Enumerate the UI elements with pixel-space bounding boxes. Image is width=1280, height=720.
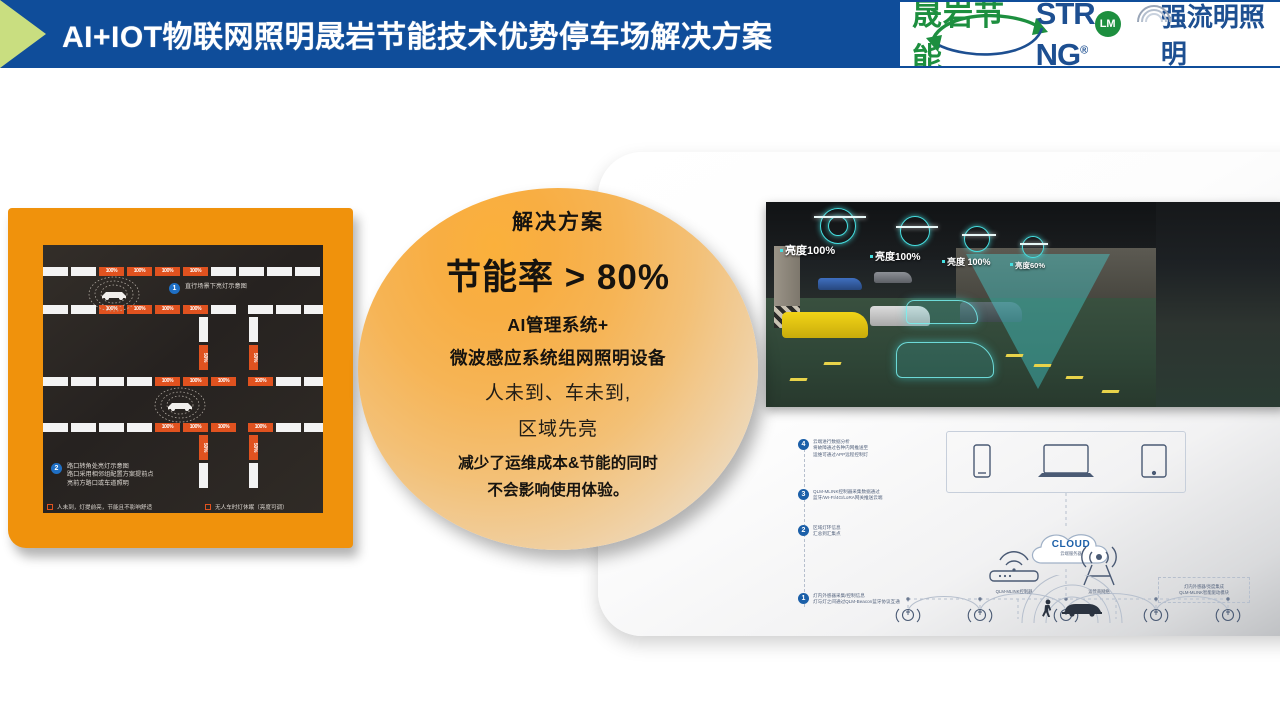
ceiling-light-bar: [814, 216, 866, 218]
annotation-text: 直行场景下亮灯示意图: [185, 283, 247, 291]
light-strip-lit: 100%: [248, 377, 273, 386]
light-strip-lit: 100%: [183, 267, 208, 276]
light-strip-lit: 100%: [155, 377, 180, 386]
logo-strong-post: NG: [1036, 37, 1081, 67]
diagram-annotation: 1 直行场景下亮灯示意图: [169, 283, 247, 294]
light-strip-row: 100% 100% 100%: [43, 423, 236, 432]
light-strip: [239, 267, 264, 276]
page-title: AI+IOT物联网照明晟岩节能技术优势停车场解决方案: [62, 0, 773, 68]
light-strip: [249, 317, 258, 342]
light-strip: [211, 267, 236, 276]
lamp-note-box: 灯内外感器/亮度集成 QLM-MLINK智能驱动模块: [1158, 577, 1250, 603]
parking-lighting-diagram: 100% 100% 100% 100% 100% 100% 100% 100%: [43, 245, 323, 513]
solution-line-6: 不会影响使用体验。: [487, 478, 628, 500]
light-strip-lit: 50%: [199, 435, 208, 460]
logo-lm-badge: LM: [1095, 11, 1121, 37]
light-strip-col: 50%: [199, 435, 208, 488]
solution-line-2: 微波感应系统组网照明设备: [450, 345, 666, 370]
ceiling-sensor-ring: [1022, 236, 1044, 258]
light-strip-lit: 100%: [155, 305, 180, 314]
light-strip: [71, 423, 96, 432]
ceiling-light-bar: [1020, 243, 1048, 245]
tag-dot: [942, 260, 945, 263]
solution-ellipse-content: 解决方案 节能率 > 80% AI管理系统+ 微波感应系统组网照明设备 人未到、…: [358, 188, 758, 550]
solution-ellipse: 解决方案 节能率 > 80% AI管理系统+ 微波感应系统组网照明设备 人未到、…: [358, 188, 758, 550]
light-strip: [295, 267, 320, 276]
light-strip: [43, 267, 68, 276]
solution-line-3: 人未到、车未到,: [485, 378, 631, 405]
light-strip-lit: 100%: [183, 423, 208, 432]
legend-item: 人未到，灯提前亮，节能且不影响舒适: [47, 503, 152, 511]
wireframe-car: [896, 342, 994, 378]
brightness-tag: 亮度100%: [780, 242, 835, 258]
lane-dash: [789, 378, 807, 381]
light-strip-row: 100%: [248, 423, 323, 432]
light-strip-col: 50%: [249, 317, 258, 370]
light-strip-lit: 100%: [211, 377, 236, 386]
solution-line-1: AI管理系统+: [507, 312, 608, 337]
lane-dash: [1033, 364, 1051, 367]
light-strip: [304, 423, 323, 432]
ceiling-sensor-ring: [900, 216, 930, 246]
highlighted-car: [906, 300, 978, 324]
light-strip-lit: 50%: [199, 345, 208, 370]
ceiling-sensor-ring: [964, 226, 990, 252]
light-strip: [127, 423, 152, 432]
light-strip-row: 100% 100% 100%: [43, 377, 236, 386]
solution-line-5: 减少了运维成本&节能的同时: [458, 451, 658, 473]
lamp-icon: [1216, 609, 1240, 622]
logo-registered-mark: ®: [1080, 44, 1087, 56]
lane-dash: [1005, 354, 1023, 357]
solution-line-4: 区域先亮: [518, 414, 598, 441]
lane-dash: [823, 362, 841, 365]
light-strip-row: 100% 100% 100% 100%: [43, 267, 320, 276]
lamp-note-line-2: QLM-MLINK智能驱动模块: [1179, 590, 1229, 596]
light-strip: [199, 317, 208, 342]
light-strip-lit: 50%: [249, 345, 258, 370]
header-bar: AI+IOT物联网照明晟岩节能技术优势停车场解决方案 晟岩节能 STRLMNG®…: [0, 0, 1280, 68]
tag-dot: [1010, 263, 1013, 266]
light-strip: [43, 377, 68, 386]
light-strip: [211, 305, 236, 314]
light-strip: [199, 463, 208, 488]
tag-dot: [870, 255, 873, 258]
light-strip: [304, 305, 323, 314]
parked-car: [782, 312, 868, 338]
light-strip-lit: 50%: [249, 435, 258, 460]
light-strip: [248, 305, 273, 314]
light-strip: [43, 423, 68, 432]
light-strip: [43, 305, 68, 314]
chevron-right-icon: [0, 0, 46, 68]
network-architecture-diagram: 4 云端进行数据分析 将故障通过各种内网推送至 运维可通过APP远程控制灯 3 …: [768, 427, 1280, 619]
lane-dash: [1101, 390, 1119, 393]
tag-dot: [780, 249, 783, 252]
annotation-number: 2: [51, 463, 62, 474]
legend-marker: [205, 504, 211, 510]
ceiling-light-bar: [962, 234, 996, 236]
light-strip: [127, 377, 152, 386]
light-strip: [276, 305, 301, 314]
parked-car: [874, 272, 912, 283]
legend-marker: [47, 504, 53, 510]
legend-item: 无人车时灯休眠（亮度可调）: [205, 503, 288, 511]
brightness-tag: 亮度60%: [1010, 260, 1045, 271]
left-orange-card: 100% 100% 100% 100% 100% 100% 100% 100%: [8, 208, 353, 548]
signal-arc-icon: [1136, 5, 1172, 23]
light-strip-lit: 100%: [183, 377, 208, 386]
light-strip: [99, 423, 124, 432]
brightness-tag: 亮度100%: [870, 248, 921, 263]
logo-strong-pre: STR: [1036, 2, 1095, 31]
solution-title: 解决方案: [512, 206, 604, 236]
sensor-waves: [998, 575, 1148, 625]
lamp-icon: [968, 609, 992, 622]
annotation-number: 1: [169, 283, 180, 294]
light-strip: [71, 377, 96, 386]
lane-dash: [1065, 376, 1083, 379]
light-strip: [276, 423, 301, 432]
car-sensor-group: [87, 275, 141, 313]
logo-brand-cn2: 强流明照明: [1161, 2, 1280, 66]
light-strip-col: 50%: [249, 435, 258, 488]
annotation-text: 路口转角处亮灯示意图 路口采用相邻组配置方案提前点 亮前方路口或车道照明: [67, 463, 154, 488]
light-strip: [99, 377, 124, 386]
logo-brand-cn: 晟岩节能: [912, 2, 1026, 66]
light-strip-lit: 100%: [155, 267, 180, 276]
light-strip: [249, 463, 258, 488]
light-strip-lit: 100%: [183, 305, 208, 314]
light-strip-lit: 100%: [248, 423, 273, 432]
light-strip-lit: 100%: [211, 423, 236, 432]
brightness-tag: 亮度 100%: [942, 255, 991, 268]
energy-saving-rate: 节能率 > 80%: [446, 249, 670, 300]
brand-logo: 晟岩节能 STRLMNG® 强流明照明: [900, 2, 1280, 66]
light-strip: [267, 267, 292, 276]
light-strip-col: 50%: [199, 317, 208, 370]
parking-garage-photo: 亮度100% 亮度100% 亮度 100% 亮度60%: [766, 202, 1280, 407]
light-strip: [304, 377, 323, 386]
diagram-annotation: 2 路口转角处亮灯示意图 路口采用相邻组配置方案提前点 亮前方路口或车道照明: [51, 463, 154, 488]
pedestrian-icon: [1040, 599, 1056, 617]
light-strip: [276, 377, 301, 386]
light-strip-lit: 100%: [155, 423, 180, 432]
car-icon: [1060, 601, 1104, 617]
car-sensor-group: [153, 386, 207, 424]
light-strip-row: [248, 305, 323, 314]
parked-car: [818, 278, 862, 290]
ceiling-light-bar: [896, 226, 938, 228]
lamp-icon: [896, 609, 920, 622]
ceiling-sensor-ring: [828, 216, 848, 236]
light-strip-row: 100%: [248, 377, 323, 386]
